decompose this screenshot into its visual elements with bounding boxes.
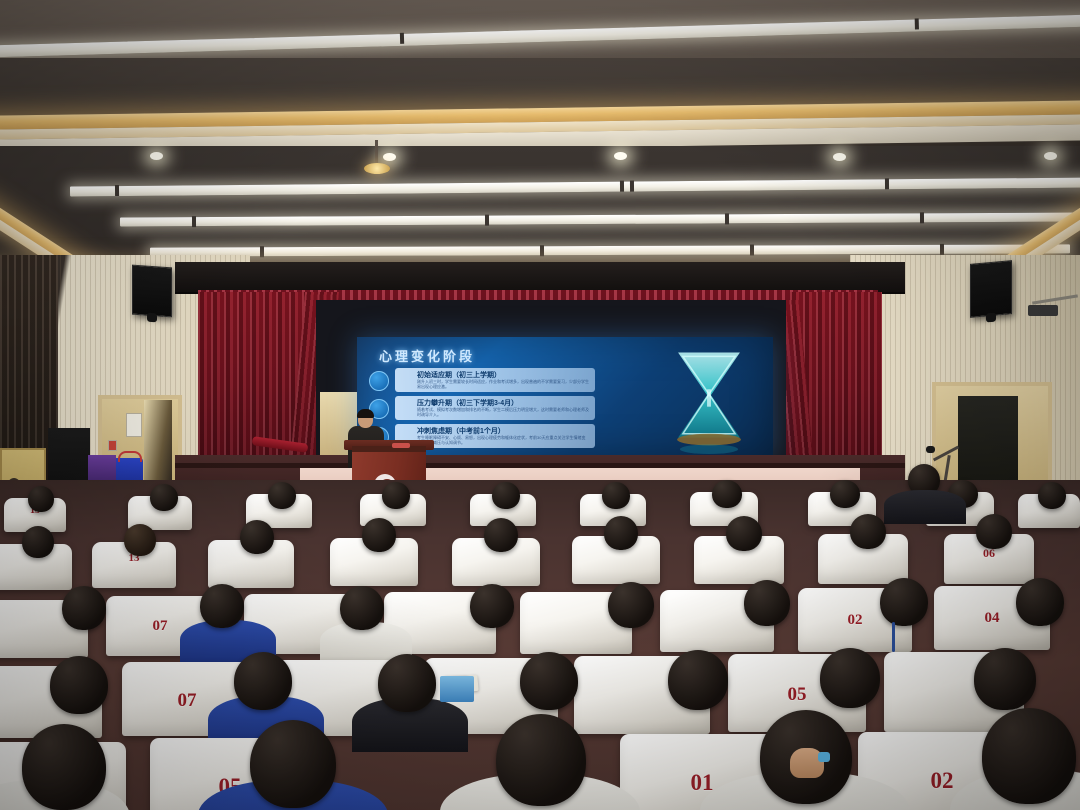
- student-head: [362, 518, 396, 552]
- student-head: [250, 720, 336, 808]
- clock-icon: [369, 371, 389, 391]
- hourglass-icon: [651, 339, 767, 455]
- downlight: [1044, 152, 1057, 160]
- student-head: [50, 656, 108, 714]
- wall-speaker-left: [132, 265, 172, 318]
- presenter-hair: [357, 409, 374, 418]
- student-head: [62, 586, 106, 630]
- slide-item: 初始适应期（初三上学期） 刚升入初三时，学生需要较长时间适应，作业和考试增多，出…: [395, 368, 595, 392]
- microphone-head: [926, 446, 935, 453]
- notice-board: [126, 413, 142, 437]
- stage-edge: [175, 463, 905, 468]
- student-head: [974, 648, 1036, 710]
- slide-item-body: 考生睡眠障碍不安、心烦、易怒，出现心理疲劳和躯体化症状，考前30天应重点关注学生…: [417, 435, 589, 446]
- door-opening-left: [144, 400, 172, 492]
- seat-number: 04: [985, 610, 1000, 627]
- student-head: [382, 482, 410, 509]
- student-head: [820, 648, 880, 708]
- student-head: [124, 524, 156, 556]
- downlight: [383, 153, 396, 161]
- student-head: [602, 482, 630, 509]
- pendant-lamp: [364, 163, 390, 174]
- student-head: [22, 724, 106, 810]
- student-head: [880, 578, 928, 626]
- auditorium-photo: 心理变化阶段 初始适应期（初三上学期） 刚升入初三时，学生需要较长时间适应，作: [0, 0, 1080, 810]
- downlight: [150, 152, 163, 160]
- student-head: [830, 480, 860, 508]
- student-head: [150, 484, 178, 511]
- bag-handle: [118, 451, 142, 462]
- seat-number: 07: [178, 690, 197, 712]
- student-head: [712, 480, 742, 508]
- downlight: [614, 152, 627, 160]
- adult-shoulders: [884, 490, 966, 524]
- student-head: [608, 582, 654, 628]
- student-head: [492, 482, 520, 509]
- podium-papers: [392, 443, 410, 448]
- downlight: [833, 153, 846, 161]
- wall-speaker-right: [970, 260, 1012, 318]
- desk-book: [440, 676, 474, 702]
- student-head: [604, 516, 638, 550]
- seat-number: 07: [153, 618, 168, 635]
- student-head: [982, 708, 1076, 804]
- student-head: [1038, 482, 1066, 509]
- student-head: [520, 652, 578, 710]
- student-head: [268, 482, 296, 509]
- student-head: [240, 520, 274, 554]
- student-head: [496, 714, 586, 806]
- pendant-rod: [375, 140, 378, 164]
- slide-item: 压力攀升期（初三下学期3-4月） 随着考试、模拟考次数增加和排名的不断，学生二模…: [395, 396, 595, 420]
- student-head: [234, 652, 292, 710]
- seat-number: 02: [848, 612, 863, 629]
- audience-area: 13 13 06: [0, 480, 1080, 810]
- student-head: [1016, 578, 1064, 626]
- student-head: [726, 516, 762, 551]
- notice-small: [108, 440, 117, 451]
- seat-number: 02: [931, 768, 954, 794]
- small-object: [818, 752, 830, 762]
- student-head: [976, 514, 1012, 549]
- student-head: [378, 654, 436, 712]
- student-head: [744, 580, 790, 626]
- wall-bracket-light: [1028, 305, 1058, 316]
- student-head: [340, 586, 384, 630]
- student-head: [28, 486, 54, 512]
- student-head: [484, 518, 518, 552]
- student-head: [22, 526, 54, 558]
- student-head: [200, 584, 244, 628]
- student-head: [850, 514, 886, 549]
- student-head: [470, 584, 514, 628]
- slide-title: 心理变化阶段: [379, 346, 475, 365]
- lanyard: [892, 622, 895, 652]
- slide-item-body: 刚升入初三时，学生需要较长时间适应，作业和考试增多，出现普遍的不学需要复习，少部…: [417, 379, 589, 390]
- slide-item-body: 随着考试、模拟考次数增加和排名的不断，学生二模后压力明显增大，这时需要老师和心理…: [417, 407, 589, 418]
- seat-number: 05: [788, 684, 807, 706]
- student-head: [668, 650, 728, 710]
